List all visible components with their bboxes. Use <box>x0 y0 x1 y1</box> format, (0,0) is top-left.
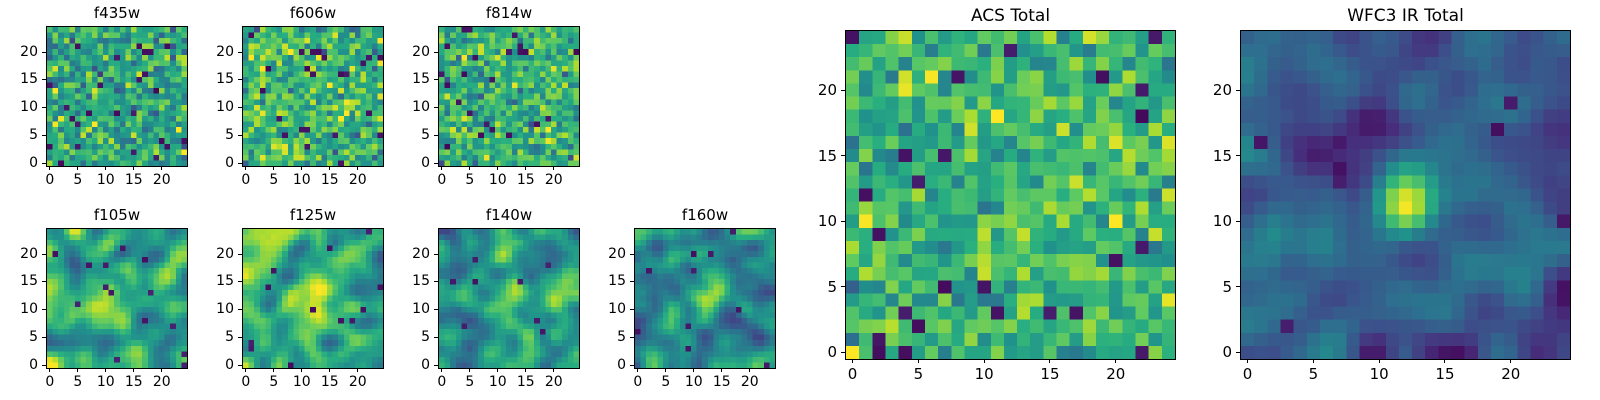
xtick-f105w-1 <box>77 368 78 372</box>
yticklabel-f814w-3: 15 <box>370 71 430 88</box>
ytick-f435w-2 <box>42 107 46 108</box>
xticklabel-f160w-3: 15 <box>692 374 752 391</box>
ytick-f125w-2 <box>238 309 242 310</box>
ytick-f435w-4 <box>42 52 46 53</box>
ytick-f606w-3 <box>238 79 242 80</box>
xtick-f140w-2 <box>497 368 498 372</box>
xtick-f125w-4 <box>357 368 358 372</box>
xticklabel-wfc3_ir_total-0: 0 <box>1218 365 1278 383</box>
panel-f105w: f105w0510152005101520 <box>0 0 1600 400</box>
yticklabel-acs_total-4: 20 <box>777 81 837 99</box>
yticklabel-wfc3_ir_total-2: 10 <box>1172 212 1232 230</box>
xticklabel-wfc3_ir_total-3: 15 <box>1415 365 1475 383</box>
yticklabel-f140w-4: 20 <box>370 246 430 263</box>
xtick-acs_total-2 <box>984 359 985 363</box>
ytick-f105w-3 <box>42 281 46 282</box>
xtick-f160w-1 <box>665 368 666 372</box>
yticklabel-f814w-2: 10 <box>370 99 430 116</box>
xticklabel-f125w-4: 20 <box>328 374 388 391</box>
figure-canvas: f435w0510152005101520f606w05101520051015… <box>0 0 1600 400</box>
ytick-acs_total-0 <box>841 352 845 353</box>
xticklabel-wfc3_ir_total-2: 10 <box>1349 365 1409 383</box>
ytick-f814w-3 <box>434 79 438 80</box>
ytick-f105w-0 <box>42 365 46 366</box>
panel-title-f160w: f160w <box>634 206 776 224</box>
heatmap-pixels-acs_total <box>846 31 1175 359</box>
xticklabel-f105w-0: 0 <box>20 374 80 391</box>
heatmap-axes-f105w <box>46 228 188 369</box>
xticklabel-f140w-4: 20 <box>524 374 584 391</box>
panel-f125w: f125w0510152005101520 <box>0 0 1600 400</box>
yticklabel-f160w-1: 5 <box>566 329 626 346</box>
heatmap-pixels-f160w <box>635 229 775 368</box>
yticklabel-f105w-4: 20 <box>0 246 38 263</box>
yticklabel-acs_total-1: 5 <box>777 278 837 296</box>
xtick-wfc3_ir_total-2 <box>1379 359 1380 363</box>
heatmap-axes-f435w <box>46 26 188 167</box>
yticklabel-f435w-1: 5 <box>0 127 38 144</box>
yticklabel-f160w-0: 0 <box>566 357 626 374</box>
ytick-wfc3_ir_total-2 <box>1236 221 1240 222</box>
heatmap-pixels-f435w <box>47 27 187 166</box>
xticklabel-f105w-2: 10 <box>76 374 136 391</box>
xtick-wfc3_ir_total-0 <box>1247 359 1248 363</box>
xtick-f125w-2 <box>301 368 302 372</box>
panel-f606w: f606w0510152005101520 <box>0 0 1600 400</box>
xtick-f435w-0 <box>49 166 50 170</box>
panel-f140w: f140w0510152005101520 <box>0 0 1600 400</box>
xticklabel-f105w-1: 5 <box>48 374 108 391</box>
xticklabel-f140w-0: 0 <box>412 374 472 391</box>
yticklabel-f606w-3: 15 <box>174 71 234 88</box>
panel-f160w: f160w0510152005101520 <box>0 0 1600 400</box>
panel-title-f814w: f814w <box>438 4 580 22</box>
panel-f814w: f814w0510152005101520 <box>0 0 1600 400</box>
ytick-f160w-3 <box>630 281 634 282</box>
yticklabel-wfc3_ir_total-1: 5 <box>1172 278 1232 296</box>
heatmap-axes-f125w <box>242 228 384 369</box>
xtick-f125w-0 <box>245 368 246 372</box>
yticklabel-f140w-1: 5 <box>370 329 430 346</box>
yticklabel-f435w-0: 0 <box>0 155 38 172</box>
xticklabel-wfc3_ir_total-4: 20 <box>1481 365 1541 383</box>
xticklabel-f814w-3: 15 <box>496 172 556 189</box>
xticklabel-f140w-3: 15 <box>496 374 556 391</box>
xticklabel-f606w-1: 5 <box>244 172 304 189</box>
xtick-acs_total-3 <box>1049 359 1050 363</box>
xticklabel-f606w-3: 15 <box>300 172 360 189</box>
xtick-f140w-0 <box>441 368 442 372</box>
ytick-f606w-1 <box>238 135 242 136</box>
ytick-f606w-0 <box>238 163 242 164</box>
xticklabel-acs_total-3: 15 <box>1020 365 1080 383</box>
xticklabel-f160w-1: 5 <box>636 374 696 391</box>
xticklabel-f435w-3: 15 <box>104 172 164 189</box>
xtick-f105w-0 <box>49 368 50 372</box>
ytick-acs_total-2 <box>841 221 845 222</box>
xtick-acs_total-1 <box>918 359 919 363</box>
heatmap-pixels-wfc3_ir_total <box>1241 31 1570 359</box>
heatmap-axes-f814w <box>438 26 580 167</box>
ytick-f435w-1 <box>42 135 46 136</box>
xticklabel-f160w-4: 20 <box>720 374 780 391</box>
ytick-wfc3_ir_total-3 <box>1236 155 1240 156</box>
xticklabel-f105w-3: 15 <box>104 374 164 391</box>
heatmap-pixels-f140w <box>439 229 579 368</box>
xtick-f105w-2 <box>105 368 106 372</box>
yticklabel-wfc3_ir_total-4: 20 <box>1172 81 1232 99</box>
yticklabel-f606w-4: 20 <box>174 44 234 61</box>
xticklabel-f606w-4: 20 <box>328 172 388 189</box>
yticklabel-f160w-4: 20 <box>566 246 626 263</box>
xticklabel-f435w-2: 10 <box>76 172 136 189</box>
xtick-f140w-3 <box>525 368 526 372</box>
heatmap-axes-f606w <box>242 26 384 167</box>
xticklabel-f160w-2: 10 <box>664 374 724 391</box>
yticklabel-wfc3_ir_total-0: 0 <box>1172 343 1232 361</box>
yticklabel-f435w-2: 10 <box>0 99 38 116</box>
ytick-f105w-4 <box>42 254 46 255</box>
yticklabel-f814w-0: 0 <box>370 155 430 172</box>
xtick-f125w-1 <box>273 368 274 372</box>
yticklabel-wfc3_ir_total-3: 15 <box>1172 147 1232 165</box>
xtick-f140w-1 <box>469 368 470 372</box>
panel-acs_total: ACS Total0510152005101520 <box>0 0 1600 400</box>
yticklabel-f105w-3: 15 <box>0 273 38 290</box>
panel-wfc3_ir_total: WFC3 IR Total0510152005101520 <box>0 0 1600 400</box>
ytick-wfc3_ir_total-4 <box>1236 90 1240 91</box>
xticklabel-acs_total-1: 5 <box>888 365 948 383</box>
yticklabel-f125w-4: 20 <box>174 246 234 263</box>
panel-title-acs_total: ACS Total <box>845 6 1176 26</box>
xtick-f435w-1 <box>77 166 78 170</box>
xticklabel-f140w-2: 10 <box>468 374 528 391</box>
yticklabel-f814w-4: 20 <box>370 44 430 61</box>
ytick-wfc3_ir_total-0 <box>1236 352 1240 353</box>
ytick-f125w-1 <box>238 337 242 338</box>
yticklabel-f435w-3: 15 <box>0 71 38 88</box>
ytick-f435w-3 <box>42 79 46 80</box>
xtick-f435w-4 <box>161 166 162 170</box>
xtick-f814w-3 <box>525 166 526 170</box>
xticklabel-f105w-4: 20 <box>132 374 192 391</box>
xticklabel-f435w-4: 20 <box>132 172 192 189</box>
xticklabel-f125w-3: 15 <box>300 374 360 391</box>
yticklabel-f125w-2: 10 <box>174 301 234 318</box>
xticklabel-wfc3_ir_total-1: 5 <box>1283 365 1343 383</box>
xtick-f125w-3 <box>329 368 330 372</box>
yticklabel-f160w-2: 10 <box>566 301 626 318</box>
panel-title-f105w: f105w <box>46 206 188 224</box>
panel-title-f435w: f435w <box>46 4 188 22</box>
yticklabel-f105w-0: 0 <box>0 357 38 374</box>
xtick-f814w-2 <box>497 166 498 170</box>
xticklabel-acs_total-4: 20 <box>1086 365 1146 383</box>
heatmap-pixels-f814w <box>439 27 579 166</box>
heatmap-axes-f160w <box>634 228 776 369</box>
xtick-f160w-2 <box>693 368 694 372</box>
ytick-acs_total-1 <box>841 286 845 287</box>
xtick-f814w-1 <box>469 166 470 170</box>
yticklabel-f160w-3: 15 <box>566 273 626 290</box>
xtick-f606w-2 <box>301 166 302 170</box>
xtick-f140w-4 <box>553 368 554 372</box>
yticklabel-f140w-3: 15 <box>370 273 430 290</box>
xticklabel-f125w-0: 0 <box>216 374 276 391</box>
yticklabel-acs_total-0: 0 <box>777 343 837 361</box>
yticklabel-f125w-0: 0 <box>174 357 234 374</box>
xticklabel-f606w-0: 0 <box>216 172 276 189</box>
xtick-f814w-4 <box>553 166 554 170</box>
xticklabel-f160w-0: 0 <box>608 374 668 391</box>
ytick-f606w-2 <box>238 107 242 108</box>
ytick-f140w-1 <box>434 337 438 338</box>
ytick-f160w-0 <box>630 365 634 366</box>
xticklabel-f125w-1: 5 <box>244 374 304 391</box>
ytick-f140w-3 <box>434 281 438 282</box>
panel-title-f140w: f140w <box>438 206 580 224</box>
ytick-f125w-4 <box>238 254 242 255</box>
xticklabel-f606w-2: 10 <box>272 172 332 189</box>
heatmap-pixels-f125w <box>243 229 383 368</box>
yticklabel-f140w-2: 10 <box>370 301 430 318</box>
ytick-f814w-0 <box>434 163 438 164</box>
xtick-f105w-3 <box>133 368 134 372</box>
ytick-f105w-2 <box>42 309 46 310</box>
xtick-f606w-4 <box>357 166 358 170</box>
ytick-f160w-1 <box>630 337 634 338</box>
xticklabel-f125w-2: 10 <box>272 374 332 391</box>
ytick-f105w-1 <box>42 337 46 338</box>
ytick-acs_total-4 <box>841 90 845 91</box>
heatmap-axes-acs_total <box>845 30 1176 360</box>
xticklabel-f140w-1: 5 <box>440 374 500 391</box>
ytick-f160w-2 <box>630 309 634 310</box>
ytick-f125w-3 <box>238 281 242 282</box>
ytick-f140w-4 <box>434 254 438 255</box>
heatmap-axes-wfc3_ir_total <box>1240 30 1571 360</box>
xtick-wfc3_ir_total-3 <box>1444 359 1445 363</box>
xticklabel-acs_total-0: 0 <box>823 365 883 383</box>
xticklabel-f814w-2: 10 <box>468 172 528 189</box>
ytick-acs_total-3 <box>841 155 845 156</box>
xtick-f606w-1 <box>273 166 274 170</box>
xticklabel-f814w-4: 20 <box>524 172 584 189</box>
xticklabel-f814w-1: 5 <box>440 172 500 189</box>
yticklabel-f125w-3: 15 <box>174 273 234 290</box>
xtick-f105w-4 <box>161 368 162 372</box>
yticklabel-f606w-0: 0 <box>174 155 234 172</box>
yticklabel-acs_total-2: 10 <box>777 212 837 230</box>
yticklabel-acs_total-3: 15 <box>777 147 837 165</box>
xtick-wfc3_ir_total-1 <box>1313 359 1314 363</box>
ytick-f814w-2 <box>434 107 438 108</box>
yticklabel-f606w-1: 5 <box>174 127 234 144</box>
yticklabel-f606w-2: 10 <box>174 99 234 116</box>
xticklabel-f814w-0: 0 <box>412 172 472 189</box>
ytick-f140w-0 <box>434 365 438 366</box>
heatmap-pixels-f105w <box>47 229 187 368</box>
ytick-f125w-0 <box>238 365 242 366</box>
xtick-f606w-0 <box>245 166 246 170</box>
yticklabel-f435w-4: 20 <box>0 44 38 61</box>
ytick-f814w-1 <box>434 135 438 136</box>
yticklabel-f140w-0: 0 <box>370 357 430 374</box>
xtick-f435w-2 <box>105 166 106 170</box>
xtick-f160w-4 <box>749 368 750 372</box>
xtick-f606w-3 <box>329 166 330 170</box>
xtick-acs_total-4 <box>1115 359 1116 363</box>
ytick-wfc3_ir_total-1 <box>1236 286 1240 287</box>
panel-title-f606w: f606w <box>242 4 384 22</box>
yticklabel-f105w-2: 10 <box>0 301 38 318</box>
xticklabel-acs_total-2: 10 <box>954 365 1014 383</box>
xtick-wfc3_ir_total-4 <box>1510 359 1511 363</box>
xticklabel-f435w-1: 5 <box>48 172 108 189</box>
panel-title-f125w: f125w <box>242 206 384 224</box>
xtick-f160w-3 <box>721 368 722 372</box>
ytick-f160w-4 <box>630 254 634 255</box>
xticklabel-f435w-0: 0 <box>20 172 80 189</box>
ytick-f140w-2 <box>434 309 438 310</box>
yticklabel-f105w-1: 5 <box>0 329 38 346</box>
ytick-f435w-0 <box>42 163 46 164</box>
yticklabel-f125w-1: 5 <box>174 329 234 346</box>
heatmap-axes-f140w <box>438 228 580 369</box>
xtick-acs_total-0 <box>852 359 853 363</box>
ytick-f814w-4 <box>434 52 438 53</box>
panel-title-wfc3_ir_total: WFC3 IR Total <box>1240 6 1571 26</box>
yticklabel-f814w-1: 5 <box>370 127 430 144</box>
xtick-f814w-0 <box>441 166 442 170</box>
xtick-f160w-0 <box>637 368 638 372</box>
heatmap-pixels-f606w <box>243 27 383 166</box>
ytick-f606w-4 <box>238 52 242 53</box>
xtick-f435w-3 <box>133 166 134 170</box>
panel-f435w: f435w0510152005101520 <box>0 0 1600 400</box>
